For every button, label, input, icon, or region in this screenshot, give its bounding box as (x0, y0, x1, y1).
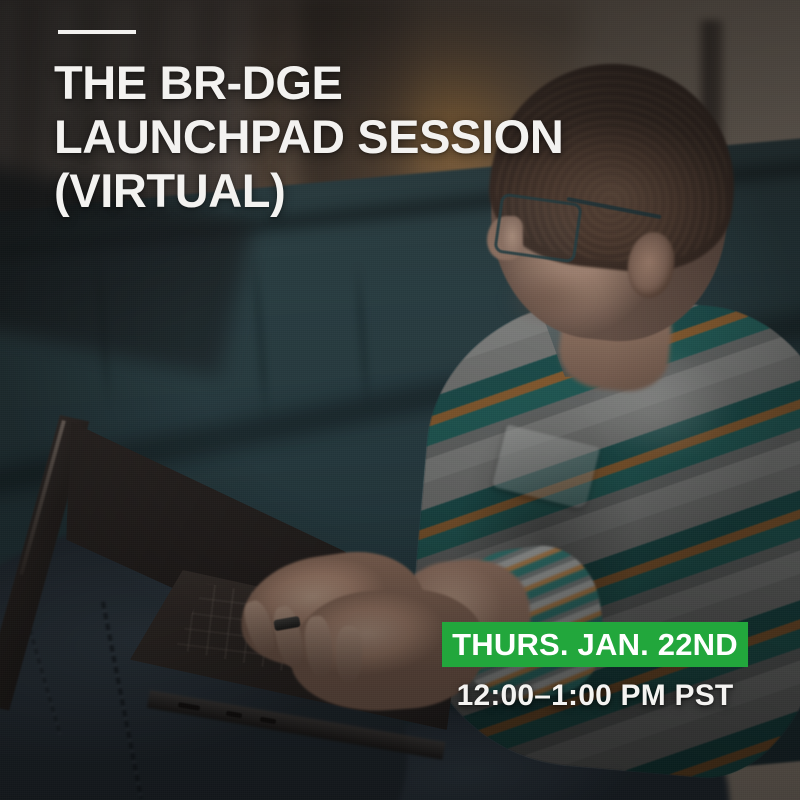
finger (336, 626, 362, 684)
event-time: 12:00–1:00 PM PST (442, 679, 748, 713)
event-promo-card: THE BR-DGE LAUNCHPAD SESSION (VIRTUAL) T… (0, 0, 800, 800)
event-date-block: THURS. JAN. 22ND 12:00–1:00 PM PST (442, 622, 748, 713)
jaw-shadow (488, 264, 638, 352)
headline-line-3: (VIRTUAL) (54, 164, 774, 218)
headline-line-1: THE BR-DGE (54, 56, 774, 110)
page-title: THE BR-DGE LAUNCHPAD SESSION (VIRTUAL) (54, 56, 774, 218)
date-badge: THURS. JAN. 22ND (442, 622, 748, 667)
accent-rule (58, 30, 136, 34)
headline-line-2: LAUNCHPAD SESSION (54, 110, 774, 164)
